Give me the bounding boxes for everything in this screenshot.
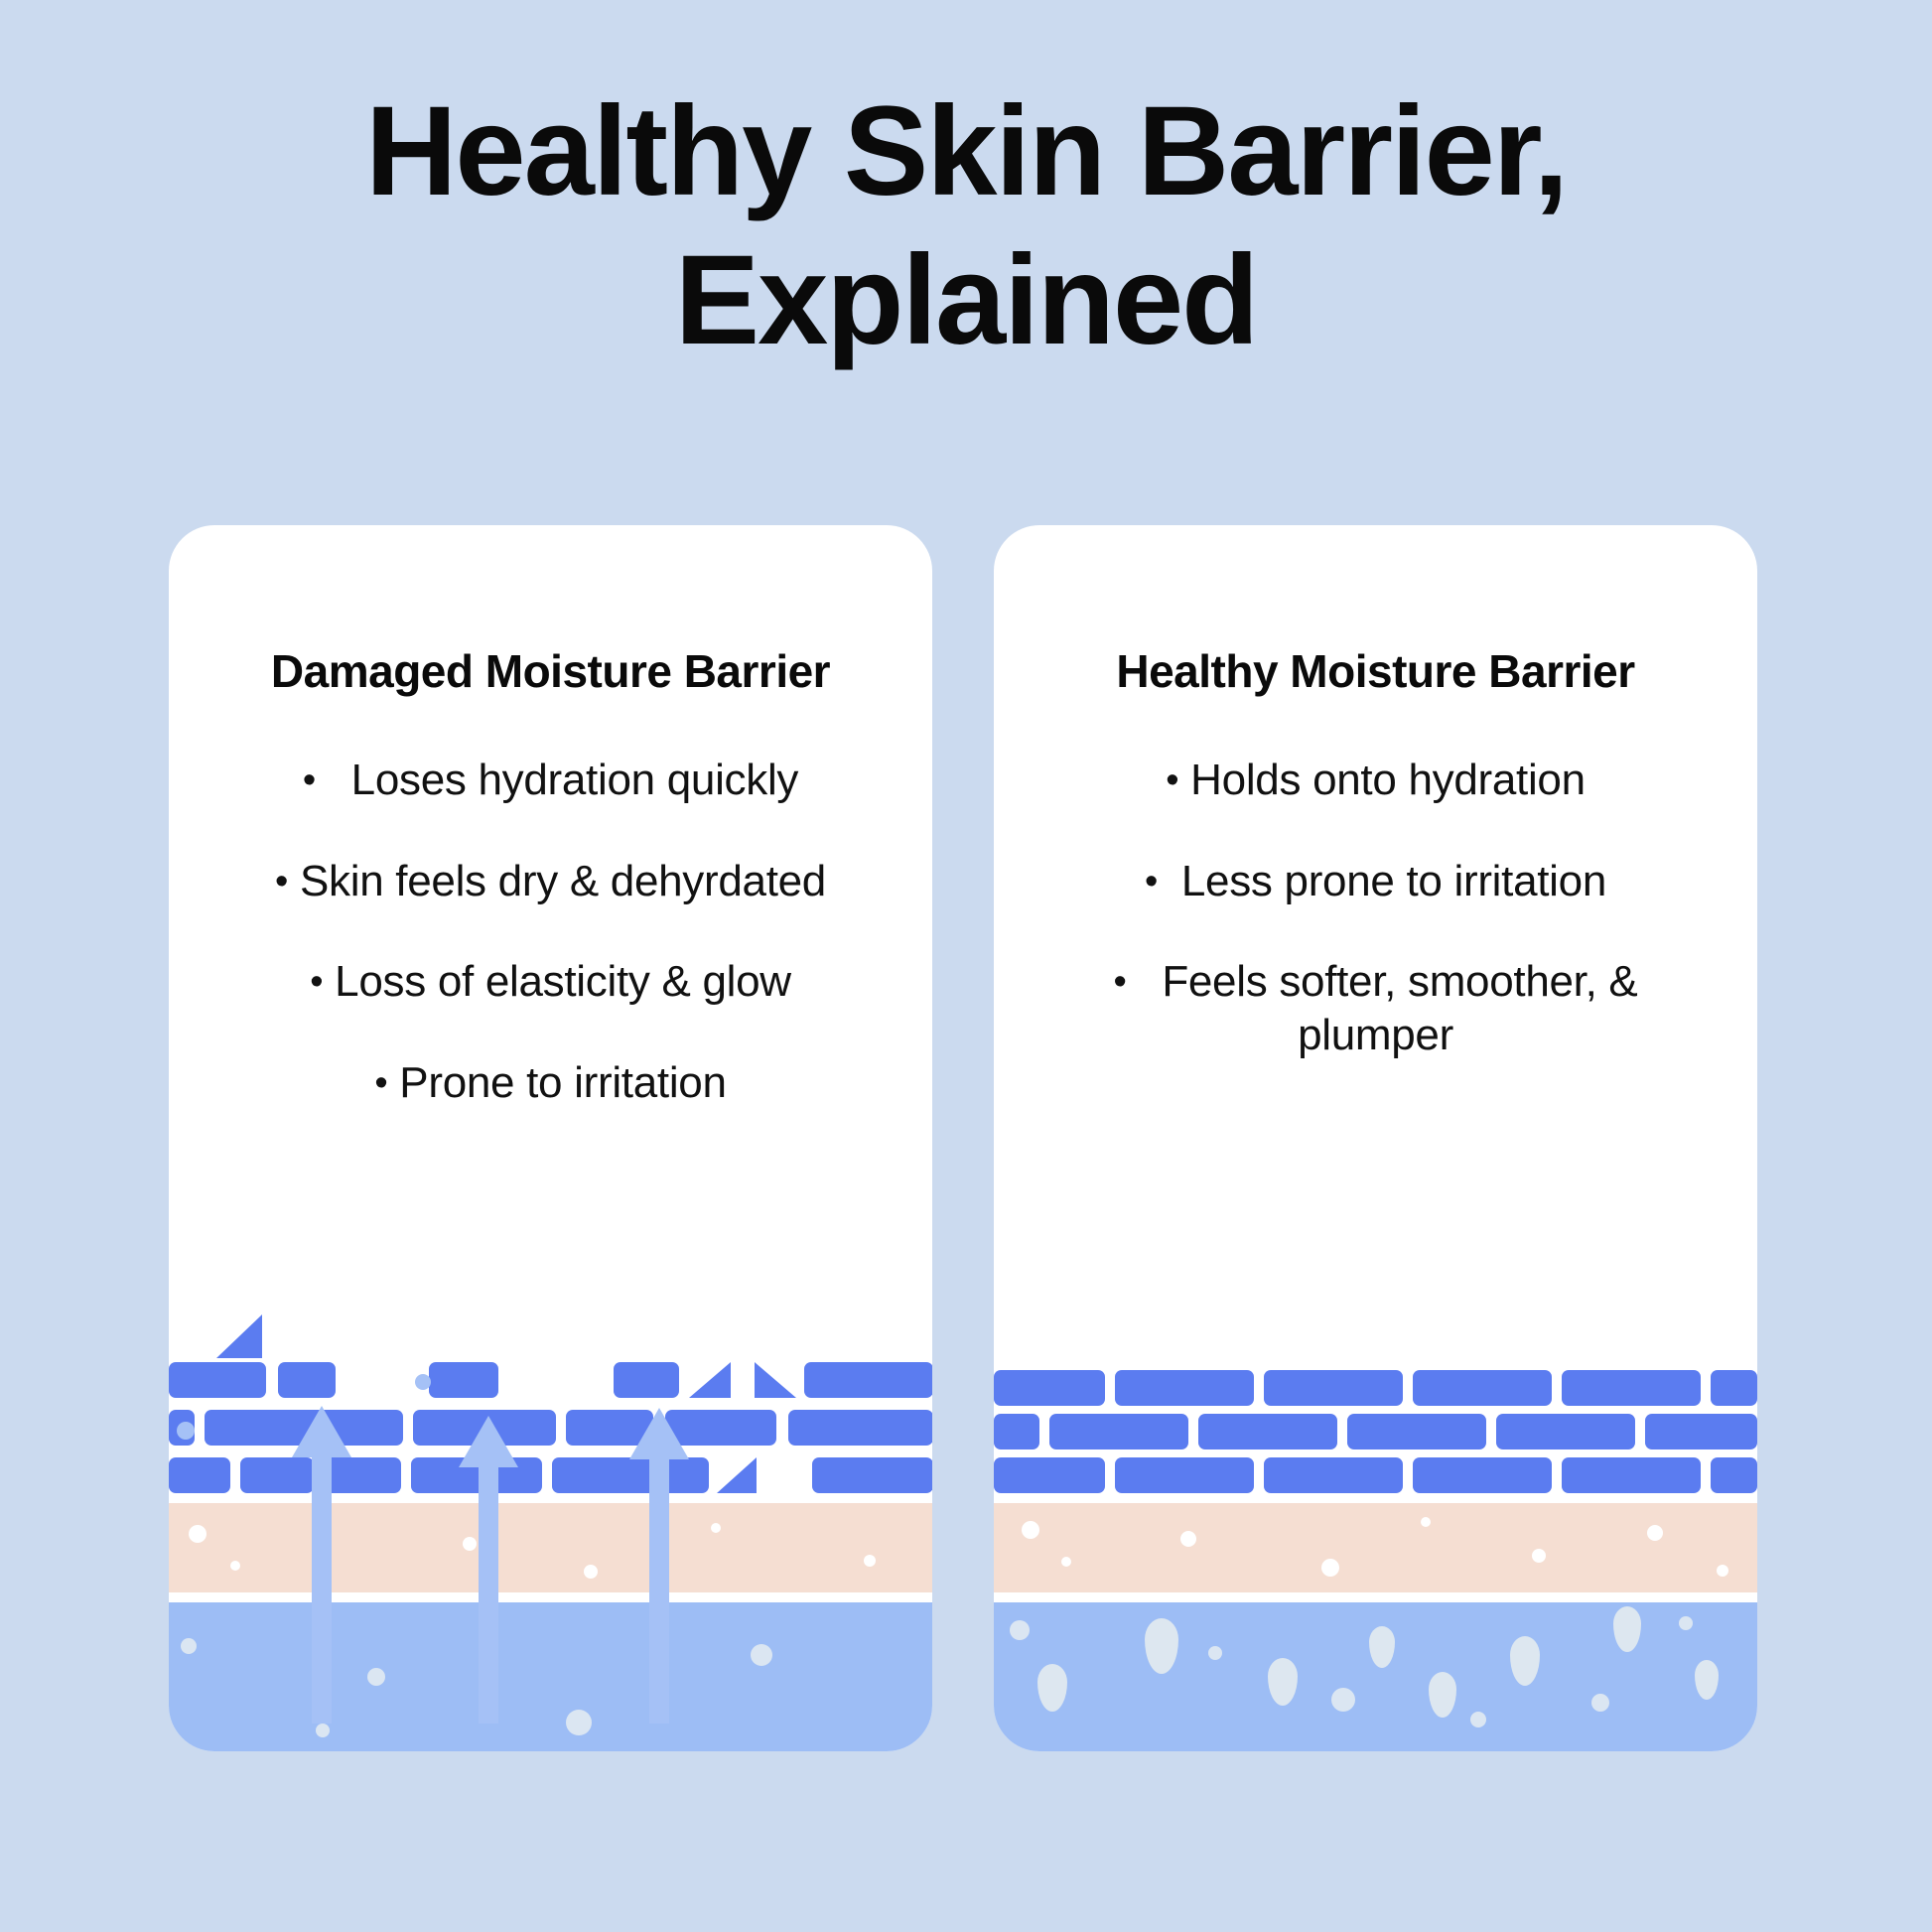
brick — [1496, 1414, 1635, 1449]
brick — [804, 1362, 932, 1398]
water-droplet-icon — [1369, 1626, 1395, 1668]
dermis-speck — [584, 1565, 598, 1579]
brick — [1264, 1370, 1403, 1406]
brick — [429, 1362, 498, 1398]
infographic-canvas: Healthy Skin Barrier, Explained Damaged … — [0, 0, 1932, 1932]
list-item: • Holds onto hydration — [1018, 754, 1733, 807]
list-item: • Loses hydration quickly — [193, 754, 908, 807]
moisture-speck — [1470, 1712, 1486, 1727]
brick — [1049, 1414, 1188, 1449]
broken-brick-fragment — [216, 1314, 262, 1358]
escaping-moisture-dot — [415, 1374, 431, 1390]
water-droplet-icon — [1613, 1606, 1641, 1652]
bullet-marker-icon: • — [1145, 861, 1158, 902]
moisture-speck — [1679, 1616, 1693, 1630]
healthy-barrier-illustration — [994, 1305, 1757, 1751]
arrow-head-icon — [629, 1408, 689, 1459]
water-droplet-icon — [1145, 1618, 1178, 1674]
list-item-label: Feels softer, smoother, & plumper — [1162, 957, 1637, 1059]
hydration-reservoir-layer — [994, 1602, 1757, 1751]
moisture-loss-arrow — [280, 1406, 363, 1724]
card-damaged-moisture-barrier: Damaged Moisture Barrier • Loses hydrati… — [169, 525, 932, 1751]
page-title-line-1: Healthy Skin Barrier, — [0, 77, 1932, 226]
brick — [1645, 1414, 1757, 1449]
list-item-label: Holds onto hydration — [1190, 756, 1586, 804]
moisture-loss-arrow — [447, 1416, 530, 1724]
list-item-label: Skin feels dry & dehyrdated — [300, 857, 826, 905]
moisture-speck — [181, 1638, 197, 1654]
list-item: • Feels softer, smoother, & plumper — [1018, 955, 1733, 1061]
list-item: • Loss of elasticity & glow — [193, 955, 908, 1009]
arrow-head-icon — [292, 1406, 351, 1457]
dermis-speck — [1717, 1565, 1728, 1577]
brick — [1413, 1457, 1552, 1493]
bullet-marker-icon: • — [1114, 961, 1127, 1003]
brick — [1562, 1370, 1701, 1406]
dermis-speck — [1061, 1557, 1071, 1567]
brick — [169, 1457, 230, 1493]
dermis-speck — [1532, 1549, 1546, 1563]
bullet-marker-icon: • — [275, 861, 288, 902]
dermis-speck — [189, 1525, 207, 1543]
brick — [1198, 1414, 1337, 1449]
bullet-marker-icon: • — [303, 759, 316, 801]
brick — [1711, 1370, 1757, 1406]
moisture-speck — [1591, 1694, 1609, 1712]
card-damaged-bullet-list: • Loses hydration quickly • Skin feels d… — [193, 754, 908, 1158]
dermis-speck — [1180, 1531, 1196, 1547]
water-droplet-icon — [1037, 1664, 1067, 1712]
brick — [1711, 1457, 1757, 1493]
moisture-speck — [1010, 1620, 1030, 1640]
brick — [1413, 1370, 1552, 1406]
list-item: • Skin feels dry & dehyrdated — [193, 855, 908, 908]
moisture-speck — [316, 1724, 330, 1737]
water-droplet-icon — [1268, 1658, 1298, 1706]
dermis-speck — [230, 1561, 240, 1571]
list-item: • Less prone to irritation — [1018, 855, 1733, 908]
brick — [1115, 1370, 1254, 1406]
intact-brick-wall — [994, 1362, 1757, 1497]
card-damaged-heading: Damaged Moisture Barrier — [169, 644, 932, 698]
brick — [1562, 1457, 1701, 1493]
brick — [994, 1414, 1039, 1449]
damaged-barrier-illustration — [169, 1305, 932, 1751]
list-item-label: Loss of elasticity & glow — [335, 957, 791, 1006]
brick — [1264, 1457, 1403, 1493]
moisture-speck — [367, 1668, 385, 1686]
list-item-label: Prone to irritation — [399, 1058, 726, 1107]
moisture-speck — [566, 1710, 592, 1735]
broken-brick-fragment — [717, 1457, 757, 1493]
bullet-marker-icon: • — [310, 961, 323, 1003]
card-healthy-heading: Healthy Moisture Barrier — [994, 644, 1757, 698]
brick — [812, 1457, 932, 1493]
dermis-speck — [1647, 1525, 1663, 1541]
moisture-speck — [1208, 1646, 1222, 1660]
arrow-shaft — [312, 1453, 332, 1724]
dermis-layer — [994, 1503, 1757, 1592]
water-droplet-icon — [1429, 1672, 1456, 1718]
dermis-speck — [1321, 1559, 1339, 1577]
brick — [1347, 1414, 1486, 1449]
page-title: Healthy Skin Barrier, Explained — [0, 77, 1932, 375]
water-droplet-icon — [1695, 1660, 1719, 1700]
escaping-moisture-dot — [177, 1422, 195, 1440]
arrow-head-icon — [459, 1416, 518, 1467]
dermis-speck — [1022, 1521, 1039, 1539]
list-item-label: Loses hydration quickly — [351, 756, 798, 804]
dermis-speck — [1421, 1517, 1431, 1527]
brick — [278, 1362, 336, 1398]
bullet-marker-icon: • — [374, 1062, 387, 1104]
card-healthy-bullet-list: • Holds onto hydration • Less prone to i… — [1018, 754, 1733, 1110]
broken-brick-fragment — [689, 1362, 731, 1398]
dermis-speck — [864, 1555, 876, 1567]
dermis-speck — [711, 1523, 721, 1533]
brick — [1115, 1457, 1254, 1493]
arrow-shaft — [649, 1455, 669, 1724]
brick — [169, 1362, 266, 1398]
card-healthy-moisture-barrier: Healthy Moisture Barrier • Holds onto hy… — [994, 525, 1757, 1751]
broken-brick-fragment — [755, 1362, 796, 1398]
list-item: • Prone to irritation — [193, 1056, 908, 1110]
moisture-loss-arrow — [618, 1408, 701, 1724]
page-title-line-2: Explained — [0, 226, 1932, 375]
moisture-speck — [751, 1644, 772, 1666]
arrow-shaft — [479, 1463, 498, 1724]
brick — [614, 1362, 679, 1398]
moisture-speck — [1331, 1688, 1355, 1712]
water-droplet-icon — [1510, 1636, 1540, 1686]
brick — [994, 1370, 1105, 1406]
brick — [788, 1410, 932, 1446]
brick — [994, 1457, 1105, 1493]
list-item-label: Less prone to irritation — [1181, 857, 1606, 905]
bullet-marker-icon: • — [1166, 759, 1178, 801]
